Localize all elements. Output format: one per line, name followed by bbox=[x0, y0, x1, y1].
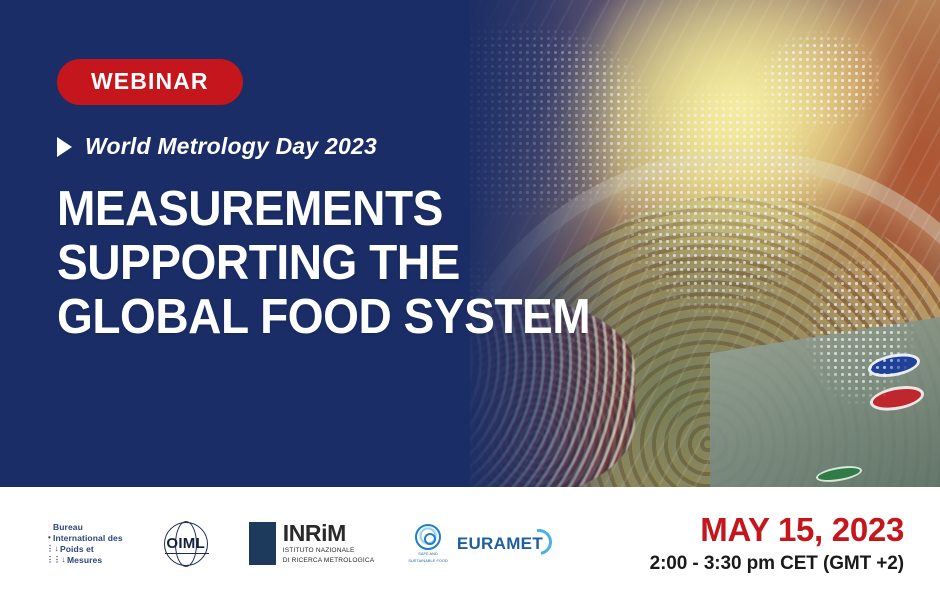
swoosh-arc-icon bbox=[521, 523, 557, 559]
event-date: MAY 15, 2023 bbox=[650, 512, 904, 548]
bipm-arrow-icon: ↓ bbox=[60, 555, 67, 565]
euramet-logo: SAFE AND SUSTAINABLE FOOD EURAMET bbox=[408, 524, 543, 563]
event-kicker: World Metrology Day 2023 bbox=[57, 133, 624, 160]
inrim-subtitle-line-2: DI RICERCA METROLOGICA bbox=[283, 557, 375, 565]
hero-text-block: WEBINAR World Metrology Day 2023 MEASURE… bbox=[57, 0, 624, 344]
euramet-wordmark: EURAMET bbox=[457, 534, 543, 554]
headline-line-3: GLOBAL FOOD SYSTEM bbox=[57, 290, 590, 344]
event-date-block: MAY 15, 2023 2:00 - 3:30 pm CET (GMT +2) bbox=[650, 512, 904, 576]
footer-bar: Bureau • International des ⋮ ↓ Poids et … bbox=[0, 487, 940, 600]
bipm-line-3: ⋮ ↓ Poids et bbox=[46, 544, 123, 554]
bipm-tick-icon: • bbox=[46, 533, 53, 543]
inrim-logo: INRiM ISTITUTO NAZIONALE DI RICERCA METR… bbox=[249, 522, 375, 565]
webinar-promo-banner: WEBINAR World Metrology Day 2023 MEASURE… bbox=[0, 0, 940, 600]
inrim-wordmark: INRiM bbox=[283, 522, 375, 545]
page-title: MEASUREMENTS SUPPORTING THE GLOBAL FOOD … bbox=[57, 182, 590, 344]
kicker-label: World Metrology Day 2023 bbox=[85, 133, 377, 160]
event-time: 2:00 - 3:30 pm CET (GMT +2) bbox=[650, 552, 904, 576]
headline-line-1: MEASUREMENTS bbox=[57, 182, 590, 236]
bipm-arrow-icon: ↓ bbox=[53, 544, 60, 554]
bipm-tick-icon: ⋮ bbox=[53, 555, 60, 565]
bipm-tick-icon: ⋮ bbox=[46, 555, 53, 565]
webinar-badge: WEBINAR bbox=[57, 59, 243, 105]
bipm-lines: Bureau • International des ⋮ ↓ Poids et … bbox=[46, 522, 123, 565]
partner-logos: Bureau • International des ⋮ ↓ Poids et … bbox=[46, 522, 543, 566]
bipm-line-2: • International des bbox=[46, 533, 123, 543]
bipm-tick-icon: ⋮ bbox=[46, 544, 53, 554]
target-circle-icon bbox=[415, 524, 441, 550]
oiml-wordmark: OIML bbox=[166, 535, 205, 552]
oiml-logo: OIML bbox=[157, 522, 215, 566]
inrim-text: INRiM ISTITUTO NAZIONALE DI RICERCA METR… bbox=[283, 522, 375, 565]
euramet-tagline-line-1: SAFE AND bbox=[418, 552, 438, 557]
bipm-line-1: Bureau bbox=[46, 522, 123, 532]
inrim-block-icon bbox=[249, 522, 276, 565]
euramet-tagline-line-2: SUSTAINABLE FOOD bbox=[408, 559, 448, 564]
euramet-emblem: SAFE AND SUSTAINABLE FOOD bbox=[408, 524, 448, 563]
bipm-line-4: ⋮ ⋮ ↓ Mesures bbox=[46, 555, 123, 565]
headline-line-2: SUPPORTING THE bbox=[57, 236, 590, 290]
play-triangle-icon bbox=[57, 137, 72, 157]
hero-section: WEBINAR World Metrology Day 2023 MEASURE… bbox=[0, 0, 940, 487]
inrim-subtitle-line-1: ISTITUTO NAZIONALE bbox=[283, 547, 375, 555]
bipm-logo: Bureau • International des ⋮ ↓ Poids et … bbox=[46, 522, 123, 565]
